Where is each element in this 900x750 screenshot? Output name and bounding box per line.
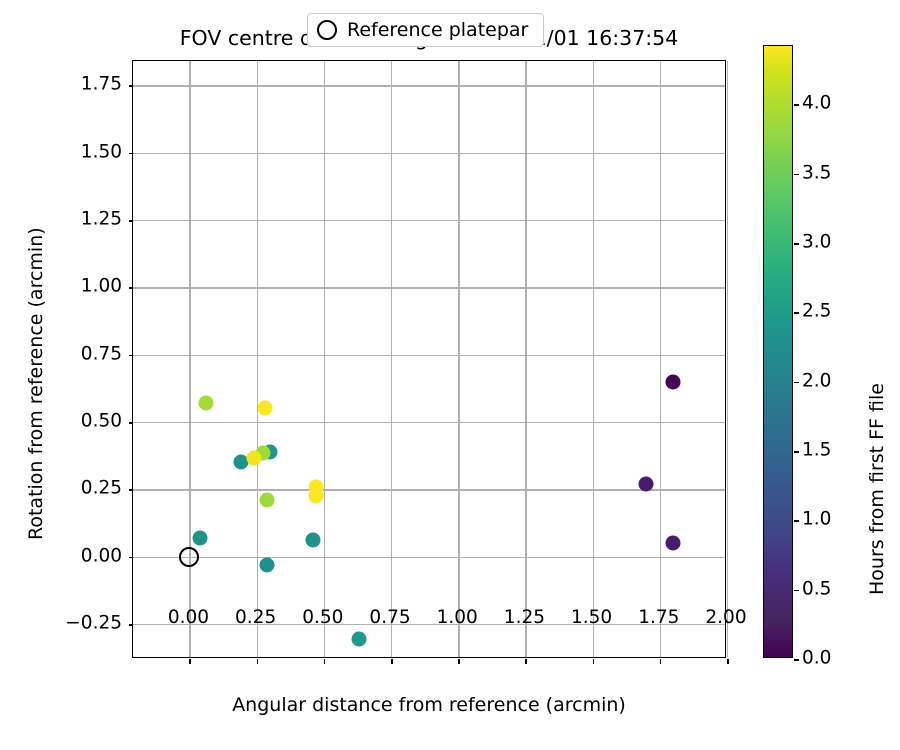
x-axis-label: Angular distance from reference (arcmin): [132, 694, 726, 716]
gridline-vertical: [257, 61, 258, 657]
scatter-point: [351, 631, 366, 646]
gridline-horizontal: [133, 153, 725, 154]
x-tick-label: 1.50: [571, 607, 612, 628]
scatter-point: [666, 536, 681, 551]
colorbar-tick-label: 1.0: [802, 509, 831, 530]
gridline-vertical: [525, 61, 526, 657]
colorbar-tick-label: 3.5: [802, 162, 831, 183]
x-tick-label: 2.00: [705, 607, 746, 628]
colorbar-tick-label: 0.0: [802, 648, 831, 669]
gridline-vertical: [189, 61, 190, 657]
x-tick: [660, 659, 662, 664]
x-tick-label: 1.25: [504, 607, 545, 628]
y-tick: [129, 220, 134, 222]
colorbar-tick: [794, 312, 799, 314]
gridline-horizontal: [133, 557, 725, 558]
y-tick: [129, 153, 134, 155]
x-tick: [525, 659, 527, 664]
legend[interactable]: Reference platepar: [307, 13, 544, 47]
scatter-point: [666, 374, 681, 389]
y-tick: [129, 355, 134, 357]
legend-reference-marker-icon: [317, 20, 337, 40]
y-tick-label: 0.50: [81, 410, 122, 431]
colorbar-tick-label: 2.5: [802, 301, 831, 322]
scatter-point: [639, 476, 654, 491]
y-tick: [129, 287, 134, 289]
legend-entry-label: Reference platepar: [347, 19, 532, 41]
colorbar-tick: [794, 451, 799, 453]
colorbar-tick-label: 4.0: [802, 93, 831, 114]
x-tick-label: 1.00: [437, 607, 478, 628]
scatter-point: [306, 533, 321, 548]
x-tick-label: 0.25: [235, 607, 276, 628]
y-tick: [129, 624, 134, 626]
y-tick: [129, 557, 134, 559]
colorbar-tick: [794, 659, 799, 661]
x-tick: [189, 659, 191, 664]
colorbar-tick-label: 0.5: [802, 578, 831, 599]
y-tick: [129, 489, 134, 491]
y-tick-label: 1.00: [81, 276, 122, 297]
gridline-vertical: [324, 61, 325, 657]
y-axis-label: Rotation from reference (arcmin): [25, 227, 47, 540]
x-tick-label: 1.75: [638, 607, 679, 628]
scatter-point: [198, 396, 213, 411]
scatter-point: [257, 401, 272, 416]
y-tick-label: 1.75: [81, 74, 122, 95]
figure-canvas: FOV centre drift starting at 2025/11/01 …: [0, 0, 900, 750]
colorbar-tick-label: 3.0: [802, 231, 831, 252]
y-tick-label: 0.75: [81, 343, 122, 364]
colorbar-tick: [794, 174, 799, 176]
scatter-point: [260, 493, 275, 508]
gridline-vertical: [458, 61, 459, 657]
colorbar-tick-label: 2.0: [802, 370, 831, 391]
scatter-point: [260, 557, 275, 572]
colorbar-tick: [794, 243, 799, 245]
gridline-vertical: [727, 61, 728, 657]
gridline-vertical: [391, 61, 392, 657]
x-tick: [257, 659, 259, 664]
gridline-vertical: [660, 61, 661, 657]
x-tick-label: 0.75: [369, 607, 410, 628]
colorbar: [763, 45, 793, 658]
gridline-horizontal: [133, 287, 725, 288]
gridline-horizontal: [133, 220, 725, 221]
colorbar-tick: [794, 590, 799, 592]
x-tick: [324, 659, 326, 664]
x-tick: [727, 659, 729, 664]
x-tick-label: 0.50: [302, 607, 343, 628]
y-tick-label: 1.25: [81, 208, 122, 229]
y-tick: [129, 422, 134, 424]
x-tick: [593, 659, 595, 664]
gridline-horizontal: [133, 355, 725, 356]
scatter-point: [193, 530, 208, 545]
reference-platepar-marker: [179, 547, 199, 567]
x-tick: [458, 659, 460, 664]
colorbar-tick-label: 1.5: [802, 439, 831, 460]
gridline-horizontal: [133, 422, 725, 423]
colorbar-tick: [794, 382, 799, 384]
gridline-vertical: [593, 61, 594, 657]
colorbar-tick: [794, 520, 799, 522]
gridline-horizontal: [133, 85, 725, 86]
plot-area: [132, 60, 726, 658]
y-tick: [129, 85, 134, 87]
x-tick-label: 0.00: [168, 607, 209, 628]
scatter-point: [308, 489, 323, 504]
y-tick-label: 0.25: [81, 478, 122, 499]
gridline-horizontal: [133, 624, 725, 625]
gridline-horizontal: [133, 489, 725, 490]
colorbar-tick: [794, 104, 799, 106]
y-tick-label: 0.00: [81, 545, 122, 566]
y-tick-label: 1.50: [81, 141, 122, 162]
x-tick: [391, 659, 393, 664]
y-tick-label: −0.25: [65, 612, 122, 633]
colorbar-label: Hours from first FF file: [866, 383, 888, 595]
scatter-point: [246, 451, 261, 466]
